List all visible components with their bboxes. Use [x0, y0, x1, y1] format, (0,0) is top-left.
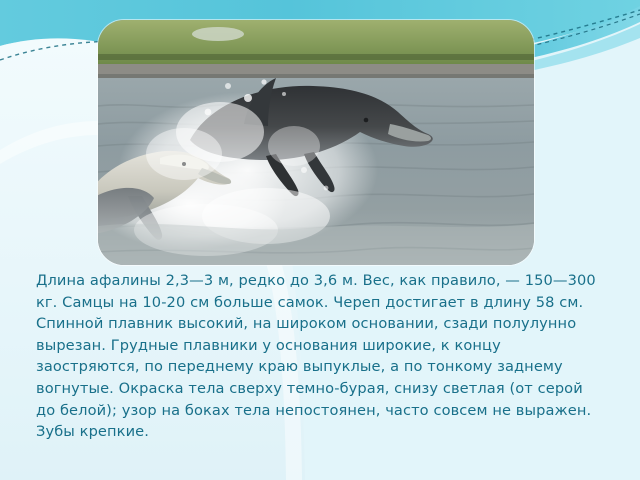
photo-bank-object: [192, 27, 244, 41]
dolphin-photo-svg: [98, 20, 534, 265]
body-paragraph: Длина афалины 2,3—3 м, редко до 3,6 м. В…: [36, 270, 606, 443]
photo-bank-shadow: [98, 54, 534, 60]
photo-foreground-water: [98, 224, 534, 265]
slide-body-text: Длина афалины 2,3—3 м, редко до 3,6 м. В…: [36, 270, 606, 443]
photo-inner: [98, 20, 534, 265]
dolphin-photo: [98, 20, 534, 265]
presentation-slide: Длина афалины 2,3—3 м, редко до 3,6 м. В…: [0, 0, 640, 480]
photo-dolphin-large-eye: [364, 118, 369, 123]
